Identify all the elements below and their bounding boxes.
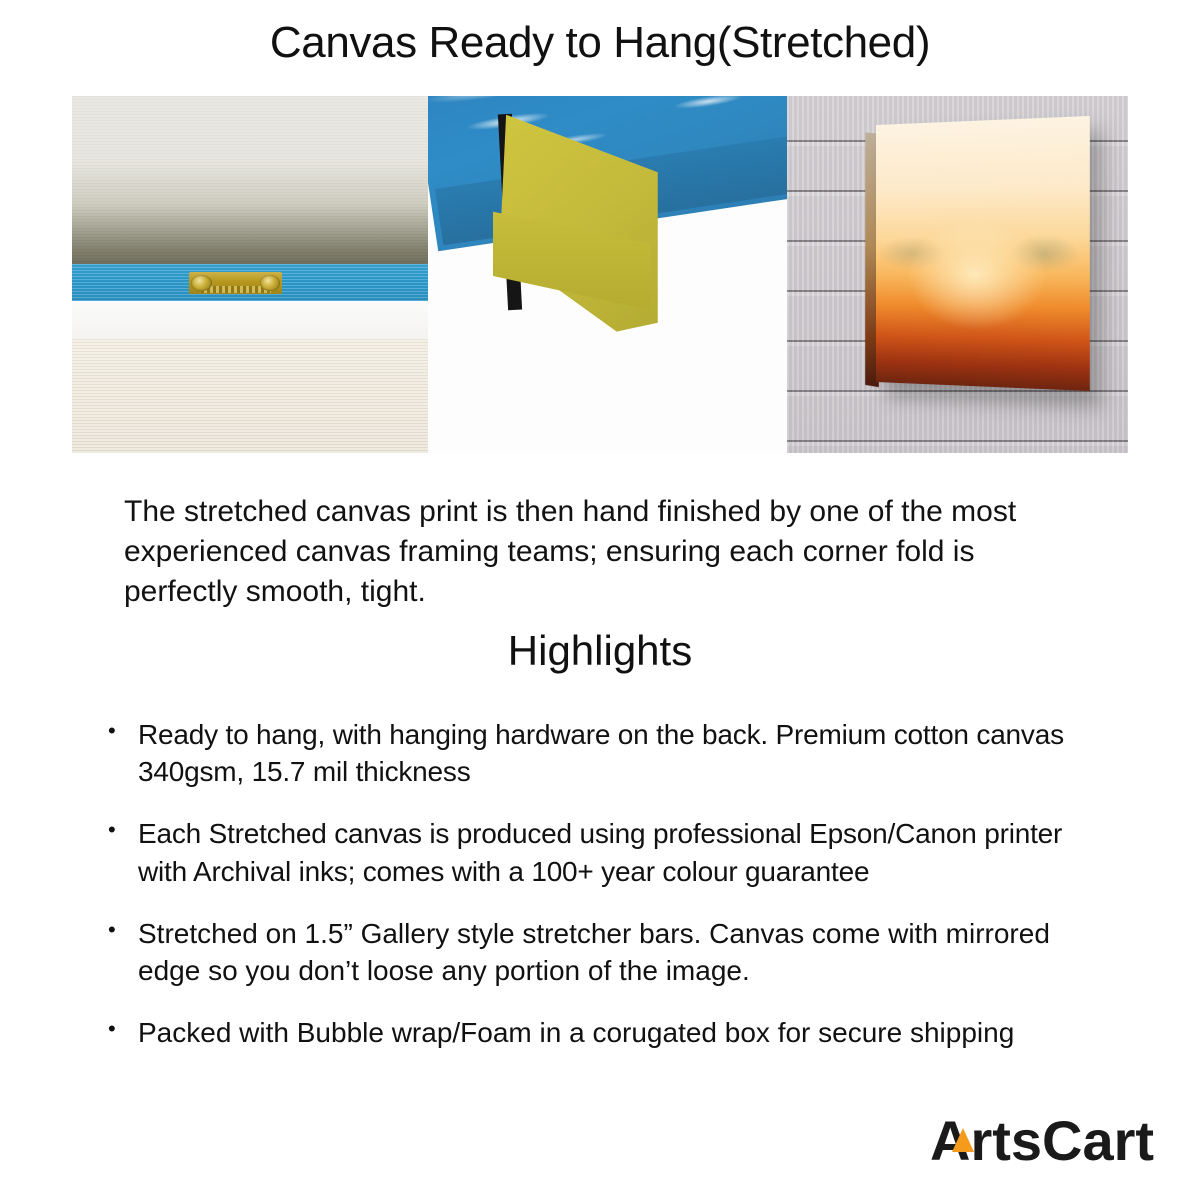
white-gap [72,301,428,340]
photo-canvas-on-wall [787,96,1128,453]
product-info-page: Canvas Ready to Hang(Stretched) [0,0,1200,1200]
photo-hanging-hardware [72,96,428,453]
product-detail-photos [72,96,1128,453]
list-item: Stretched on 1.5” Gallery style stretche… [104,915,1114,989]
lead-paragraph: The stretched canvas print is then hand … [124,492,1072,612]
sawtooth-hanger-icon [189,272,282,295]
list-item: Each Stretched canvas is produced using … [104,815,1114,889]
photo-corner-fold [428,96,787,453]
page-title: Canvas Ready to Hang(Stretched) [0,18,1200,68]
raw-canvas-surface [72,339,428,453]
highlights-list: Ready to hang, with hanging hardware on … [104,716,1114,1077]
screw-left-icon [191,275,211,291]
wall-background [72,96,428,264]
list-item: Ready to hang, with hanging hardware on … [104,716,1114,790]
highlights-heading: Highlights [0,627,1200,675]
brand-logo: ArtsCart [930,1110,1178,1172]
artscart-logo-icon: ArtsCart [930,1110,1178,1172]
list-item: Packed with Bubble wrap/Foam in a coruga… [104,1014,1114,1051]
screw-right-icon [260,275,280,291]
sunset-landscape-print [876,116,1089,391]
